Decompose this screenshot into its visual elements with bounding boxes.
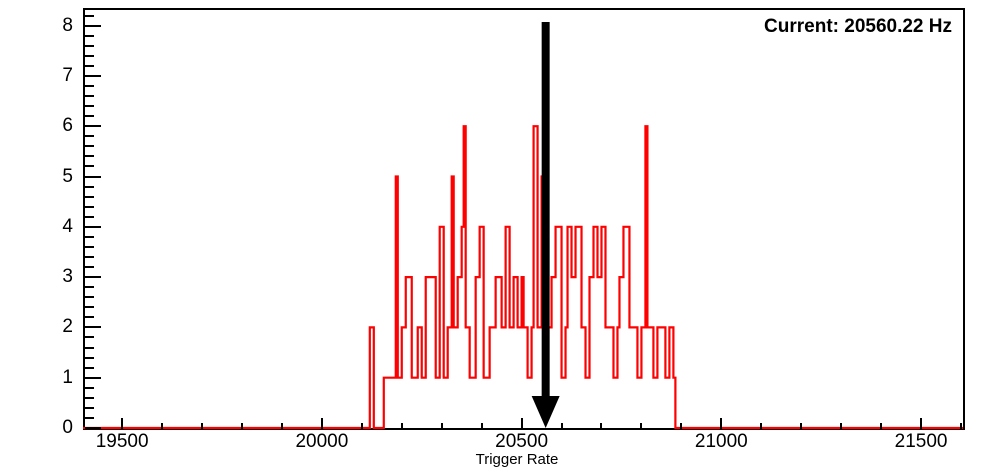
y-tick-major — [85, 75, 101, 77]
x-tick-minor — [760, 423, 762, 429]
x-tick-major — [521, 418, 523, 429]
x-tick-minor — [401, 423, 403, 429]
x-tick-minor — [680, 423, 682, 429]
y-tick-minor — [85, 336, 94, 338]
y-tick-label-text: 4 — [62, 217, 73, 236]
y-tick-minor — [85, 417, 94, 419]
y-tick-major — [85, 377, 101, 379]
y-tick-minor — [85, 95, 94, 97]
y-tick-minor — [85, 135, 94, 137]
y-tick-label-text: 7 — [62, 66, 73, 85]
y-tick-label-text: 1 — [62, 368, 73, 387]
x-tick-minor — [640, 423, 642, 429]
y-tick-minor — [85, 306, 94, 308]
x-tick-minor — [600, 423, 602, 429]
y-tick-minor — [85, 407, 94, 409]
y-tick-minor — [85, 357, 94, 359]
histogram-plot — [83, 8, 965, 430]
y-tick-minor — [85, 387, 94, 389]
y-tick-minor — [85, 145, 94, 147]
x-tick-label: 20000 — [295, 432, 348, 451]
y-tick-minor — [85, 85, 94, 87]
x-tick-minor — [880, 423, 882, 429]
x-tick-label: 20500 — [495, 432, 548, 451]
y-tick-minor — [85, 367, 94, 369]
x-tick-minor — [161, 423, 163, 429]
y-tick-minor — [85, 286, 94, 288]
y-tick-minor — [85, 35, 94, 37]
x-tick-minor — [481, 423, 483, 429]
y-tick-label-text: 2 — [62, 317, 73, 336]
y-tick-major — [85, 326, 101, 328]
current-rate-readout: Current: 20560.22 Hz — [764, 16, 952, 38]
y-tick-label-text: 8 — [62, 16, 73, 35]
y-tick-major — [85, 276, 101, 278]
y-tick-label-text: 0 — [62, 418, 73, 437]
y-tick-minor — [85, 236, 94, 238]
y-tick-minor — [85, 216, 94, 218]
x-tick-minor — [840, 423, 842, 429]
x-tick-minor — [241, 423, 243, 429]
y-tick-minor — [85, 316, 94, 318]
x-tick-minor — [561, 423, 563, 429]
x-tick-label: 19500 — [96, 432, 149, 451]
y-tick-minor — [85, 296, 94, 298]
y-tick-minor — [85, 186, 94, 188]
x-tick-label: 21000 — [695, 432, 748, 451]
y-tick-minor — [85, 397, 94, 399]
histogram-step-line — [83, 126, 963, 428]
y-tick-major — [85, 226, 101, 228]
y-tick-minor — [85, 256, 94, 258]
y-tick-major — [85, 427, 101, 429]
y-tick-minor — [85, 65, 94, 67]
y-tick-minor — [85, 55, 94, 57]
y-tick-major — [85, 25, 101, 27]
x-tick-major — [720, 418, 722, 429]
y-tick-minor — [85, 15, 94, 17]
y-tick-label-text: 5 — [62, 167, 73, 186]
y-tick-minor — [85, 347, 94, 349]
x-tick-minor — [800, 423, 802, 429]
y-tick-label-text: 3 — [62, 267, 73, 286]
y-tick-major — [85, 176, 101, 178]
y-tick-minor — [85, 206, 94, 208]
root-canvas: 012345678 1950020000205002100021500 Trig… — [0, 0, 996, 472]
x-tick-major — [321, 418, 323, 429]
y-tick-minor — [85, 165, 94, 167]
y-tick-minor — [85, 115, 94, 117]
x-tick-minor — [361, 423, 363, 429]
y-tick-minor — [85, 45, 94, 47]
y-tick-minor — [85, 266, 94, 268]
x-tick-minor — [960, 423, 962, 429]
y-tick-minor — [85, 246, 94, 248]
y-tick-minor — [85, 105, 94, 107]
x-tick-major — [920, 418, 922, 429]
y-tick-minor — [85, 155, 94, 157]
y-tick-label-text: 6 — [62, 116, 73, 135]
x-tick-major — [121, 418, 123, 429]
x-tick-minor — [281, 423, 283, 429]
y-tick-major — [85, 125, 101, 127]
x-tick-minor — [201, 423, 203, 429]
x-tick-minor — [441, 423, 443, 429]
x-tick-label: 21500 — [895, 432, 948, 451]
y-tick-minor — [85, 196, 94, 198]
x-axis-title: Trigger Rate — [476, 451, 559, 468]
